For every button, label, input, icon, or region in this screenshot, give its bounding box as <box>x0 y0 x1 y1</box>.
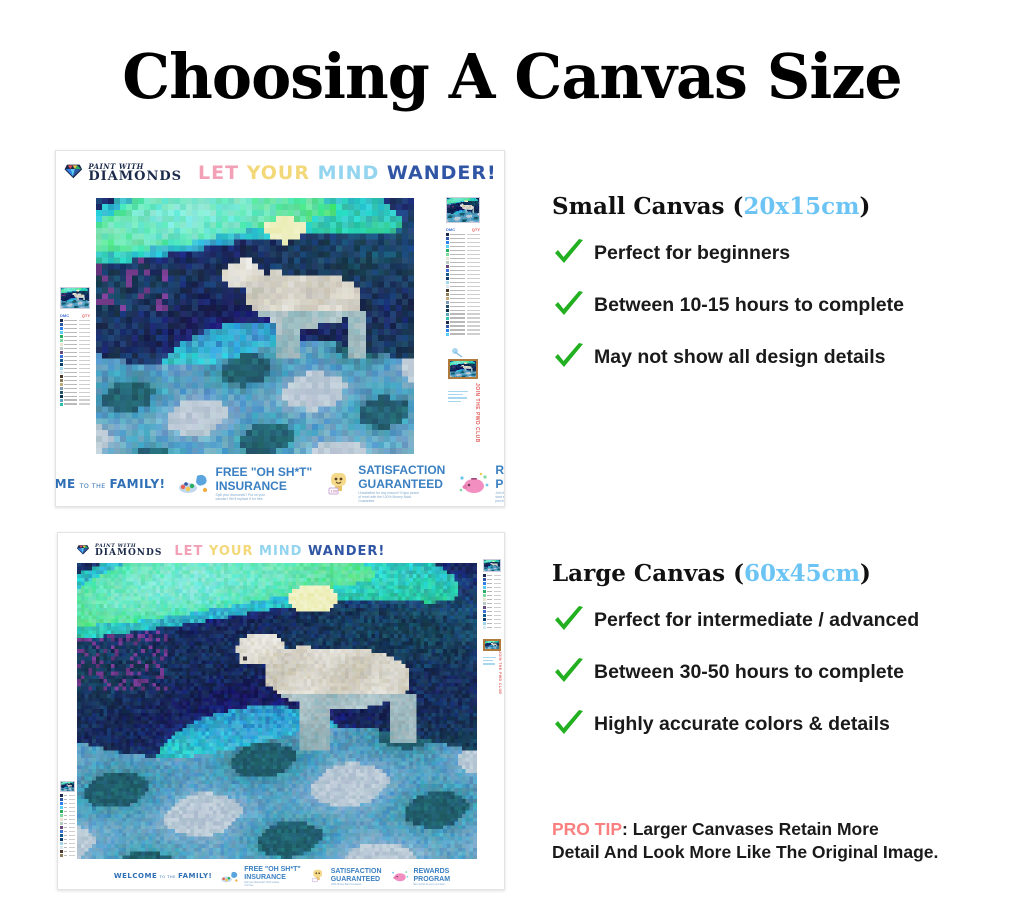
legend-row <box>446 273 480 276</box>
color-swatch <box>446 293 449 296</box>
qty-value <box>69 839 75 841</box>
canvas-artwork-small <box>96 198 414 454</box>
dmc-code <box>64 855 67 857</box>
trophy-icon <box>309 868 327 885</box>
color-swatch <box>446 249 449 252</box>
color-swatch <box>60 359 63 362</box>
qty-value <box>69 819 75 821</box>
qty-value <box>79 403 90 405</box>
color-swatch <box>446 265 449 268</box>
color-swatch <box>60 339 63 342</box>
legend-row <box>60 814 75 817</box>
check-icon <box>552 709 586 739</box>
legend-row <box>483 598 501 601</box>
brand-wordmark: PAINT WITH DIAMONDS <box>88 163 182 183</box>
qty-value <box>467 266 480 268</box>
dmc-code <box>487 587 492 589</box>
dmc-code <box>64 847 67 849</box>
legend-row <box>60 838 75 841</box>
brand-wordmark: PAINT WITH DIAMONDS <box>95 544 162 558</box>
color-swatch <box>60 826 63 829</box>
qty-value <box>494 583 501 585</box>
qty-value <box>494 623 501 625</box>
bullet-item: Between 30-50 hours to complete <box>552 657 919 687</box>
legend-row <box>60 355 90 358</box>
legend-row <box>60 339 90 342</box>
color-swatch <box>446 305 449 308</box>
legend-column-left-large <box>60 781 75 858</box>
legend-row <box>60 343 90 346</box>
color-swatch <box>60 798 63 801</box>
color-swatch <box>483 618 486 621</box>
dmc-code <box>64 364 77 366</box>
dmc-code <box>450 313 465 315</box>
color-swatch <box>446 253 449 256</box>
legend-row <box>60 818 75 821</box>
dmc-code <box>450 317 465 319</box>
paint-spill-icon <box>177 470 211 499</box>
legend-column-right-large <box>483 559 501 630</box>
legend-row <box>60 375 90 378</box>
color-swatch <box>60 391 63 394</box>
color-swatch <box>60 850 63 853</box>
dmc-code <box>450 262 465 264</box>
color-swatch <box>60 355 63 358</box>
qty-value <box>79 384 90 386</box>
legend-row <box>446 277 480 280</box>
qty-value <box>69 831 75 833</box>
legend-row <box>446 305 480 308</box>
legend-rows <box>60 794 75 857</box>
badge-text: FREE "OH SH*T" INSURANCE Spill your diam… <box>215 466 312 501</box>
legend-row <box>446 329 480 332</box>
qty-value <box>79 344 90 346</box>
dmc-code <box>450 333 465 335</box>
dmc-code <box>64 815 67 817</box>
dmc-code <box>450 329 465 331</box>
legend-row <box>446 313 480 316</box>
color-swatch <box>60 403 63 406</box>
color-swatch <box>446 329 449 332</box>
qty-value <box>467 238 480 240</box>
legend-row <box>483 610 501 613</box>
qty-value <box>467 325 480 327</box>
color-swatch <box>446 285 449 288</box>
check-icon <box>552 657 586 687</box>
qty-value <box>467 254 480 256</box>
pro-tip: PRO TIP: Larger Canvases Retain More Det… <box>552 818 938 864</box>
qty-value <box>494 607 501 609</box>
legend-row <box>60 794 75 797</box>
color-swatch <box>60 383 63 386</box>
dmc-code <box>64 851 67 853</box>
color-swatch <box>60 834 63 837</box>
small-canvas-info: Small Canvas (20x15cm) Perfect for begin… <box>552 193 904 394</box>
artwork-thumbnail <box>446 197 480 223</box>
color-swatch <box>446 309 449 312</box>
instruction-lines <box>483 657 497 667</box>
legend-row <box>60 347 90 350</box>
dmc-code <box>487 603 492 605</box>
dmc-code <box>64 399 77 401</box>
diamond-icon <box>76 542 90 560</box>
qty-value <box>79 348 90 350</box>
dmc-code <box>64 368 77 370</box>
legend-row <box>483 606 501 609</box>
dmc-code <box>450 258 465 260</box>
legend-row <box>446 237 480 240</box>
color-swatch <box>483 602 486 605</box>
dmc-code <box>64 835 67 837</box>
diamond-icon <box>63 163 83 184</box>
color-swatch <box>446 325 449 328</box>
color-swatch <box>446 273 449 276</box>
dmc-code <box>64 819 67 821</box>
dmc-code <box>450 310 465 312</box>
qty-value <box>467 234 480 236</box>
qty-value <box>494 591 501 593</box>
qty-value <box>79 332 90 334</box>
badge-text: SATISFACTION GUARANTEED Unsatisfied for … <box>358 464 445 503</box>
legend-row <box>60 363 90 366</box>
legend-row <box>60 331 90 334</box>
artwork-thumbnail <box>60 287 90 309</box>
qty-value <box>79 392 90 394</box>
legend-row <box>446 245 480 248</box>
qty-value <box>467 294 480 296</box>
color-swatch <box>60 838 63 841</box>
qty-value <box>494 627 501 629</box>
bullet-item: Perfect for beginners <box>552 238 904 268</box>
dmc-code <box>450 321 465 323</box>
qty-value <box>79 364 90 366</box>
dmc-code <box>487 615 492 617</box>
bullet-item: May not show all design details <box>552 342 904 372</box>
pro-tip-label: PRO TIP <box>552 819 622 839</box>
legend-row <box>60 842 75 845</box>
legend-row <box>446 297 480 300</box>
color-swatch <box>446 233 449 236</box>
qty-value <box>69 847 75 849</box>
dmc-code <box>64 372 77 374</box>
legend-row <box>60 822 75 825</box>
qty-value <box>69 823 75 825</box>
qty-value <box>467 302 480 304</box>
color-swatch <box>60 347 63 350</box>
color-swatch <box>60 335 63 338</box>
legend-row <box>446 321 480 324</box>
dmc-code <box>64 839 67 841</box>
legend-row <box>483 594 501 597</box>
legend-row <box>483 586 501 589</box>
legend-row <box>446 293 480 296</box>
qty-value <box>467 317 480 319</box>
color-swatch <box>60 327 63 330</box>
qty-value <box>494 587 501 589</box>
color-swatch <box>483 614 486 617</box>
legend-row <box>60 371 90 374</box>
dmc-code <box>64 332 77 334</box>
qty-value <box>79 356 90 358</box>
qty-value <box>69 835 75 837</box>
legend-row <box>60 834 75 837</box>
large-canvas-preview[interactable]: PAINT WITH DIAMONDS LET YOUR MIND WANDER… <box>57 532 505 890</box>
guarantee-bar-small: WELCOME TO THE FAMILY! <box>56 463 505 505</box>
qty-value <box>467 274 480 276</box>
bullet-label: May not show all design details <box>594 346 885 369</box>
dmc-code <box>487 583 492 585</box>
instruction-lines <box>448 391 470 404</box>
color-swatch <box>60 367 63 370</box>
legend-row <box>446 281 480 284</box>
legend-row <box>446 261 480 264</box>
qty-value <box>79 399 90 401</box>
dmc-code <box>64 403 77 405</box>
bullet-label: Highly accurate colors & details <box>594 713 890 736</box>
color-swatch <box>60 387 63 390</box>
qty-value <box>467 321 480 323</box>
dmc-code <box>450 325 465 327</box>
legend-row <box>60 802 75 805</box>
dmc-code <box>64 803 67 805</box>
dmc-code <box>64 320 77 322</box>
guarantee-bar-large: WELCOME TO THE FAMILY! FREE "OH <box>58 865 505 889</box>
color-swatch <box>483 590 486 593</box>
legend-row <box>60 335 90 338</box>
legend-row <box>60 319 90 322</box>
bullet-label: Between 10-15 hours to complete <box>594 294 904 317</box>
trophy-icon: 100 <box>324 470 354 499</box>
pro-tip-line1: PRO TIP: Larger Canvases Retain More <box>552 818 938 841</box>
badge-satisfaction: SATISFACTION GUARANTEED 100% Money Back … <box>309 868 382 887</box>
qty-value <box>467 250 480 252</box>
qty-value <box>467 310 480 312</box>
color-swatch <box>483 606 486 609</box>
color-swatch <box>483 598 486 601</box>
legend-row <box>60 806 75 809</box>
color-swatch <box>446 313 449 316</box>
badge-text: REWARDS PROGRAM Earn points for every pu… <box>414 868 451 887</box>
color-swatch <box>60 379 63 382</box>
artwork-thumbnail <box>483 559 501 572</box>
color-swatch <box>483 574 486 577</box>
dmc-code <box>450 294 465 296</box>
dmc-code <box>64 324 77 326</box>
badge-satisfaction: 100 SATISFACTION GUARANTEED Unsatisfied … <box>324 464 445 503</box>
color-swatch <box>446 261 449 264</box>
color-swatch <box>483 578 486 581</box>
qty-value <box>69 795 75 797</box>
color-swatch <box>446 257 449 260</box>
color-swatch <box>60 363 63 366</box>
check-icon <box>552 605 586 635</box>
qty-value <box>494 603 501 605</box>
badge-insurance: FREE "OH SH*T" INSURANCE Spill your diam… <box>220 866 300 887</box>
brand-header-large: PAINT WITH DIAMONDS LET YOUR MIND WANDER… <box>76 542 385 560</box>
badge-text: FREE "OH SH*T" INSURANCE Spill your diam… <box>244 866 300 887</box>
small-canvas-preview[interactable]: PAINT WITH DIAMONDS LET YOUR MIND WANDER… <box>55 150 505 507</box>
color-swatch <box>446 281 449 284</box>
dmc-code <box>64 811 67 813</box>
qty-value <box>79 360 90 362</box>
dmc-code <box>64 843 67 845</box>
dmc-code <box>64 328 77 330</box>
color-swatch <box>446 269 449 272</box>
qty-value <box>467 278 480 280</box>
dmc-code <box>64 388 77 390</box>
check-icon <box>552 342 586 372</box>
dmc-code <box>64 384 77 386</box>
qty-value <box>69 851 75 853</box>
bullet-item: Perfect for intermediate / advanced <box>552 605 919 635</box>
dmc-code <box>64 356 77 358</box>
legend-row <box>60 399 90 402</box>
legend-rows <box>446 233 480 336</box>
dmc-legend-table: DMC QTY <box>446 227 480 336</box>
qty-value <box>494 595 501 597</box>
color-swatch <box>60 854 63 857</box>
small-canvas-heading: Small Canvas (20x15cm) <box>552 193 904 220</box>
qty-value <box>79 324 90 326</box>
dmc-code <box>450 282 465 284</box>
dmc-code <box>64 827 67 829</box>
check-icon <box>552 290 586 320</box>
dmc-code <box>487 599 492 601</box>
dmc-code <box>450 266 465 268</box>
legend-row <box>60 379 90 382</box>
dmc-code <box>64 352 77 354</box>
qty-value <box>69 807 75 809</box>
qty-value <box>467 333 480 335</box>
color-swatch <box>60 794 63 797</box>
welcome-block: WELCOME TO THE FAMILY! <box>55 478 165 491</box>
club-callout-small: JOIN THE PWD CLUB <box>474 383 480 443</box>
color-swatch <box>446 317 449 320</box>
legend-row <box>60 383 90 386</box>
legend-row <box>446 285 480 288</box>
dmc-code <box>450 278 465 280</box>
color-swatch <box>446 301 449 304</box>
color-swatch <box>446 321 449 324</box>
legend-row <box>483 582 501 585</box>
color-swatch <box>483 610 486 613</box>
club-callout-large: JOIN THE PWD CLUB <box>498 651 502 694</box>
tagline-small: LET YOUR MIND WANDER! <box>198 162 497 184</box>
qty-value <box>467 258 480 260</box>
bullet-label: Perfect for intermediate / advanced <box>594 609 919 632</box>
color-swatch <box>60 375 63 378</box>
dmc-code <box>450 234 465 236</box>
legend-row <box>483 602 501 605</box>
qty-value <box>79 376 90 378</box>
legend-row <box>60 395 90 398</box>
legend-row <box>60 327 90 330</box>
legend-row <box>483 618 501 621</box>
dmc-code <box>64 340 77 342</box>
qty-value <box>79 336 90 338</box>
qty-value <box>467 242 480 244</box>
bullet-item: Between 10-15 hours to complete <box>552 290 904 320</box>
qty-value <box>79 328 90 330</box>
dmc-code <box>450 242 465 244</box>
dmc-code <box>450 306 465 308</box>
legend-row <box>446 253 480 256</box>
color-swatch <box>446 297 449 300</box>
dmc-code <box>64 807 67 809</box>
color-swatch <box>446 277 449 280</box>
color-swatch <box>60 323 63 326</box>
dmc-code <box>487 623 492 625</box>
qty-value <box>69 827 75 829</box>
legend-row <box>60 403 90 406</box>
qty-value <box>79 352 90 354</box>
legend-row <box>60 351 90 354</box>
qty-value <box>467 329 480 331</box>
legend-row <box>60 323 90 326</box>
framed-artwork-illustration <box>448 347 478 379</box>
qty-value <box>467 282 480 284</box>
color-swatch <box>60 399 63 402</box>
dmc-code <box>64 380 77 382</box>
qty-value <box>467 306 480 308</box>
dmc-code <box>487 591 492 593</box>
bullet-label: Between 30-50 hours to complete <box>594 661 904 684</box>
legend-row <box>483 578 501 581</box>
dmc-code <box>64 795 67 797</box>
legend-row <box>60 391 90 394</box>
legend-row <box>60 846 75 849</box>
dmc-code <box>487 619 492 621</box>
dmc-code <box>487 627 492 629</box>
dmc-code <box>487 579 492 581</box>
dmc-code <box>450 290 465 292</box>
qty-value <box>467 270 480 272</box>
color-swatch <box>446 237 449 240</box>
legend-row <box>446 309 480 312</box>
color-swatch <box>60 814 63 817</box>
page-title: Choosing A Canvas Size <box>15 44 1008 109</box>
legend-row <box>446 289 480 292</box>
legend-row <box>446 317 480 320</box>
qty-value <box>69 803 75 805</box>
color-swatch <box>483 594 486 597</box>
qty-value <box>467 286 480 288</box>
color-swatch <box>60 806 63 809</box>
bullet-label: Perfect for beginners <box>594 242 790 265</box>
frame-thumbnail <box>448 359 478 379</box>
welcome-block: WELCOME TO THE FAMILY! <box>114 873 212 880</box>
legend-row <box>483 590 501 593</box>
legend-column-right-small: DMC QTY <box>446 197 480 337</box>
dmc-code <box>450 246 465 248</box>
color-swatch <box>60 822 63 825</box>
dmc-code <box>64 823 67 825</box>
qty-value <box>69 799 75 801</box>
dmc-legend-table: DMC QTY <box>60 313 90 406</box>
dmc-code <box>64 799 67 801</box>
legend-row <box>60 359 90 362</box>
large-canvas-size: 60x45cm <box>744 560 860 587</box>
legend-row <box>483 626 501 629</box>
piggy-bank-icon <box>390 868 410 885</box>
dmc-code <box>487 607 492 609</box>
dmc-code <box>487 575 492 577</box>
dmc-code <box>450 274 465 276</box>
legend-row <box>60 810 75 813</box>
large-canvas-info: Large Canvas (60x45cm) Perfect for inter… <box>552 560 919 761</box>
legend-row <box>483 622 501 625</box>
dmc-code <box>64 348 77 350</box>
